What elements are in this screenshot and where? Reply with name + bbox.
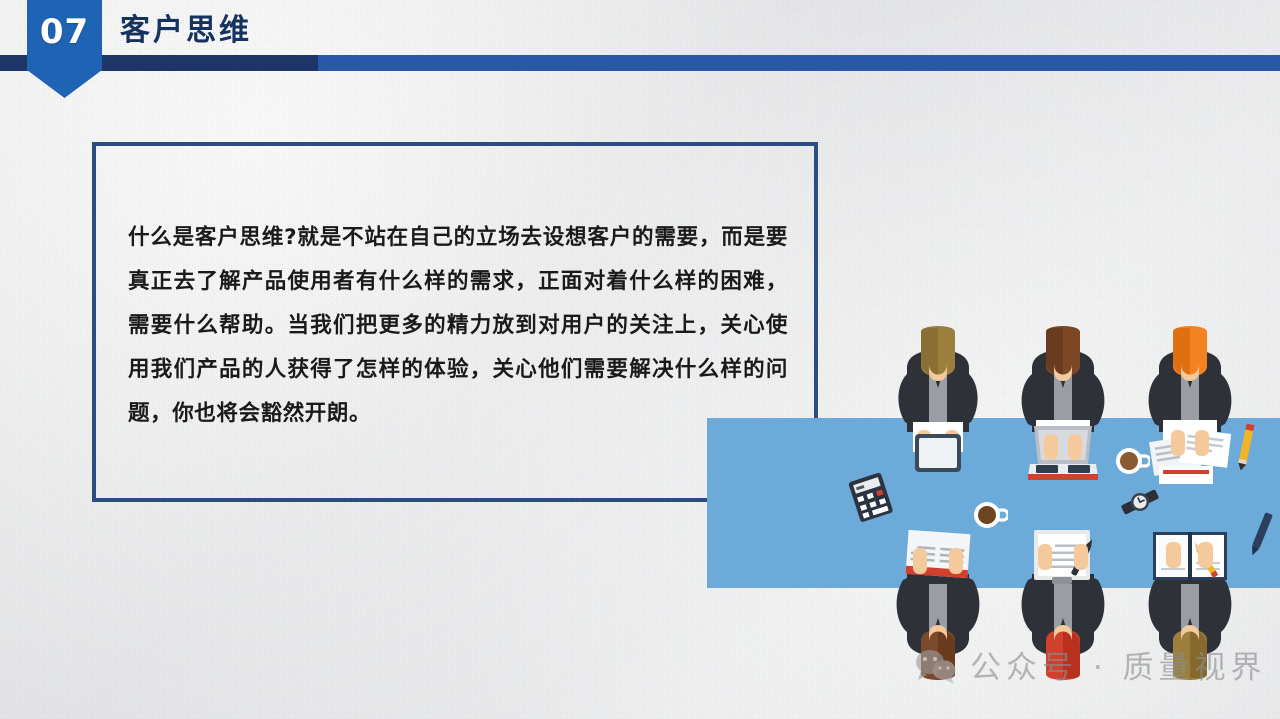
wechat-icon xyxy=(915,648,957,688)
body-paragraph: 什么是客户思维?就是不站在自己的立场去设想客户的需要，而是要真正去了解产品使用者… xyxy=(128,216,788,436)
page-title: 客户思维 xyxy=(120,16,252,46)
person-top-right xyxy=(1137,326,1243,486)
meeting-illustration xyxy=(707,418,1280,588)
pencil-icon xyxy=(1234,420,1258,472)
calculator-icon xyxy=(850,474,894,522)
slide-number-label: 07 xyxy=(40,15,89,49)
coffee-cup-icon xyxy=(972,500,1008,532)
coffee-cup-icon xyxy=(1114,446,1150,478)
watermark-text: 公众号 · 质量视界 xyxy=(970,653,1267,684)
watermark: 公众号 · 质量视界 xyxy=(915,648,1267,688)
wristwatch-icon xyxy=(1119,484,1161,520)
header-bar-blue-segment xyxy=(318,55,1280,71)
pen-icon xyxy=(1250,510,1272,558)
slide-number-badge: 07 xyxy=(27,0,102,98)
person-top-left xyxy=(885,326,991,486)
slide-canvas: 07 客户思维 什么是客户思维?就是不站在自己的立场去设想客户的需要，而是要真正… xyxy=(0,0,1280,719)
person-top-center xyxy=(1010,326,1116,486)
